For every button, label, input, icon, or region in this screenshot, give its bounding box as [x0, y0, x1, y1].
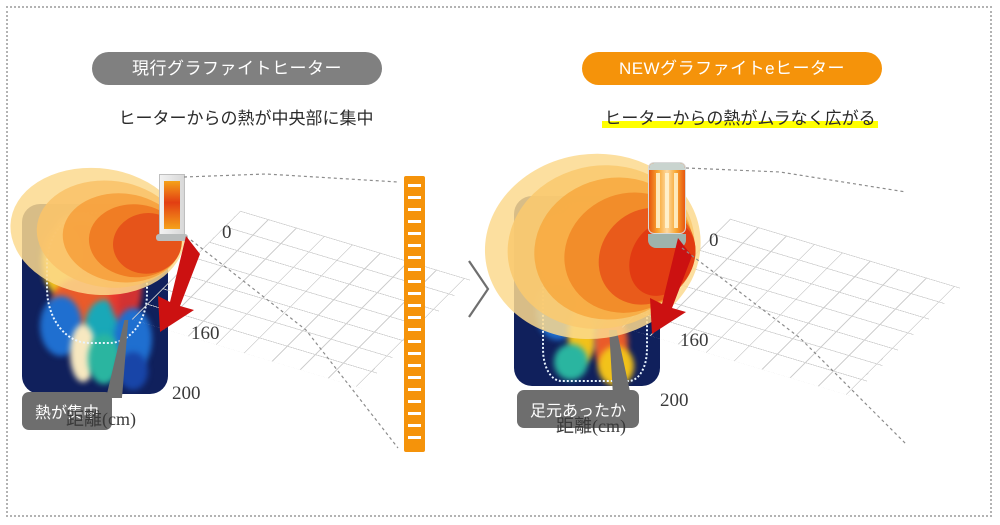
- stage-new: 0 160 200 距離(cm): [500, 150, 980, 480]
- axis-tick-160-new: 160: [680, 330, 709, 352]
- direction-arrow-current: [146, 234, 206, 334]
- panel-title-pill-new: NEWグラファイトeヒーター: [582, 52, 882, 85]
- axis-tick-160-current: 160: [191, 323, 220, 345]
- heater-element-bar-current: [404, 176, 425, 452]
- axis-label-distance-new: 距離(cm): [556, 412, 626, 438]
- axis-tick-0-current: 0: [222, 222, 232, 244]
- panel-new-heater: NEWグラファイトeヒーター ヒーターからの熱がムラなく広がる 足元あったか: [500, 0, 980, 525]
- axis-tick-0-new: 0: [709, 230, 719, 252]
- axis-label-distance-current: 距離(cm): [66, 405, 136, 431]
- panel-subtitle-current: ヒーターからの熱が中央部に集中: [6, 104, 486, 129]
- panel-current-heater: 現行グラファイトヒーター ヒーターからの熱が中央部に集中 熱が集中: [6, 0, 486, 525]
- panel-title-pill-current: 現行グラファイトヒーター: [92, 52, 382, 85]
- panel-subtitle-new-text: ヒーターからの熱がムラなく広がる: [602, 109, 877, 128]
- heater-unit-current: [159, 174, 185, 236]
- panel-subtitle-current-text: ヒーターからの熱が中央部に集中: [119, 109, 374, 128]
- axis-tick-200-new: 200: [660, 390, 689, 412]
- heater-unit-new: [648, 162, 686, 234]
- axis-tick-200-current: 200: [172, 383, 201, 405]
- direction-arrow-new: [638, 236, 698, 336]
- panel-subtitle-new: ヒーターからの熱がムラなく広がる: [500, 104, 980, 129]
